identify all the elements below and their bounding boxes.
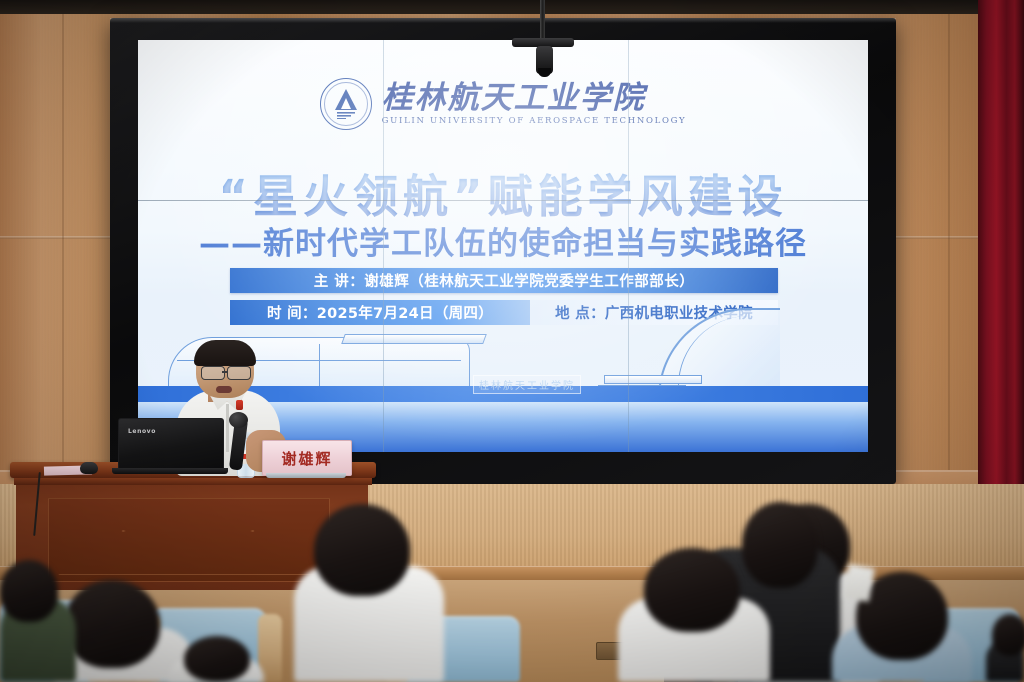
speaker-glasses-bridge <box>222 371 228 373</box>
laptop-lid <box>118 418 224 472</box>
slide-speaker-bar: 主 讲：谢雄辉（桂林航天工业学院党委学生工作部部长） <box>230 268 778 293</box>
audience-person-head <box>644 548 740 632</box>
panel-seam-vertical <box>628 40 629 452</box>
speaker-nameplate: 谢雄辉 <box>262 440 352 476</box>
logo-name-cn: 桂林航天工业学院 <box>382 82 646 115</box>
audience-person-head <box>314 504 410 596</box>
slide-title-main: “星火领航”赋能学风建设 <box>138 160 868 225</box>
nameplate-text: 谢雄辉 <box>281 448 332 469</box>
slide-title-sub: ——新时代学工队伍的使命担当与实践路径 <box>138 218 868 263</box>
panel-seam-horizontal <box>138 200 868 201</box>
podium-desk-lip <box>14 478 372 485</box>
campus-slab <box>604 375 702 384</box>
aerospace-seal-icon <box>320 78 372 130</box>
bezel-highlight <box>110 18 896 23</box>
audience-person-head <box>64 580 160 668</box>
speaker-shirt-placket <box>226 404 229 452</box>
speaker-mouth <box>216 386 232 393</box>
laptop-brand-label: Lenovo <box>128 428 156 435</box>
campus-watermark: 桂林航天工业学院 <box>473 375 581 394</box>
logo-name-en: GUILIN UNIVERSITY OF AEROSPACE TECHNOLOG… <box>382 116 687 126</box>
microphone-head <box>229 412 248 428</box>
campus-building-roof <box>341 334 487 344</box>
lecture-hall-photo: 桂林航天工业学院 GUILIN UNIVERSITY OF AEROSPACE … <box>0 0 1024 682</box>
wall-panel-line <box>948 0 950 530</box>
speaker-hair <box>194 340 256 366</box>
wall-panel-line <box>62 0 64 530</box>
computer-mouse <box>80 462 98 474</box>
ceiling-strip <box>0 0 1024 14</box>
speaker-lapel-pin <box>236 400 243 410</box>
nameplate-stand <box>266 473 346 478</box>
audience-person-head <box>992 614 1024 656</box>
speaker-glasses-right-lens <box>227 366 251 380</box>
institution-logo: 桂林航天工业学院 GUILIN UNIVERSITY OF AEROSPACE … <box>138 78 868 130</box>
audience-person-head <box>742 502 818 588</box>
ceiling-camera-mount <box>540 0 545 40</box>
panel-seam-vertical <box>383 40 384 452</box>
laptop-base <box>112 468 228 474</box>
audience-person-head <box>184 636 250 682</box>
speaker-glasses-left-lens <box>201 366 225 380</box>
audience-person-head <box>0 560 58 622</box>
